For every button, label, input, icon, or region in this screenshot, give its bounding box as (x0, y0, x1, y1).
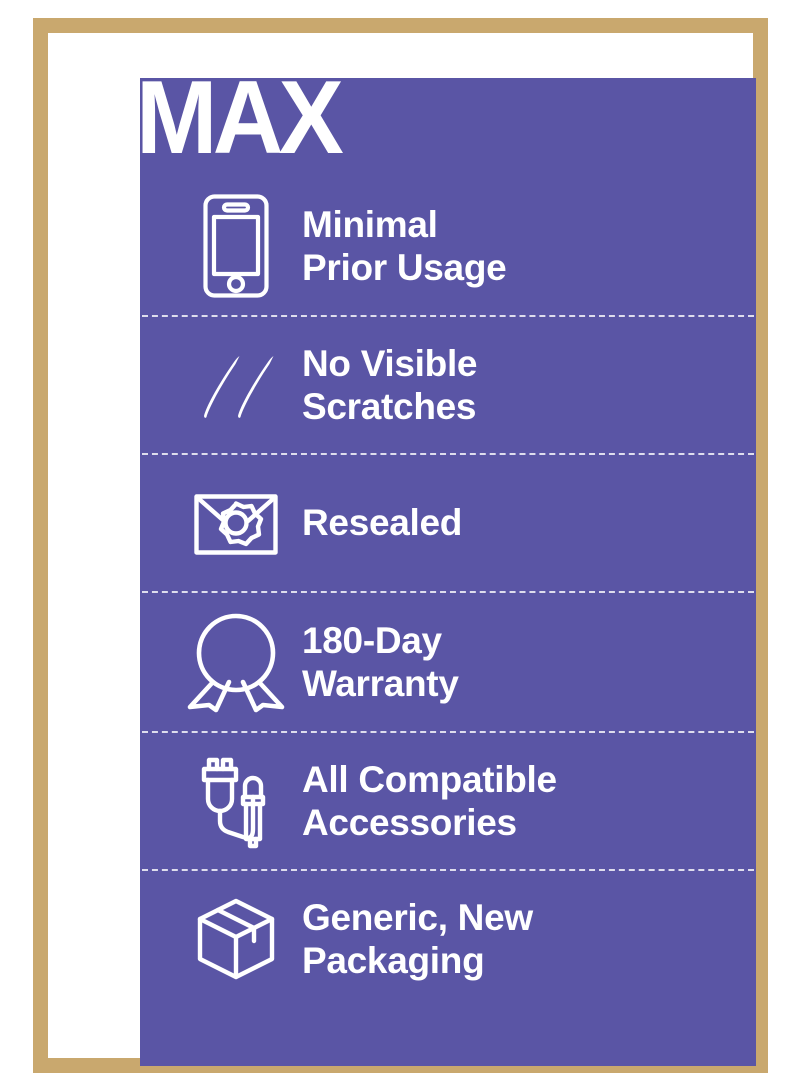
feature-label: Resealed (290, 501, 462, 544)
feature-list: Minimal Prior Usage No Visible Scratches (140, 177, 756, 1007)
feature-row-warranty: 180-Day Warranty (140, 593, 756, 731)
sealed-envelope-icon (140, 491, 290, 555)
feature-panel: MAX Minimal Prior Usage (140, 78, 756, 1066)
feature-row-accessories: All Compatible Accessories (140, 733, 756, 869)
scratches-icon (140, 350, 290, 420)
brand-wordmark: MAX (140, 78, 339, 170)
feature-label: 180-Day Warranty (290, 619, 459, 706)
smartphone-icon (140, 194, 290, 298)
feature-label: Minimal Prior Usage (290, 203, 506, 290)
gold-frame-border: MAX Minimal Prior Usage (33, 18, 768, 1073)
feature-row-no-visible-scratches: No Visible Scratches (140, 317, 756, 453)
feature-row-resealed: Resealed (140, 455, 756, 591)
feature-label: Generic, New Packaging (290, 896, 533, 983)
poster: MAX Minimal Prior Usage (0, 0, 800, 1091)
feature-row-packaging: Generic, New Packaging (140, 871, 756, 1007)
feature-label: All Compatible Accessories (290, 758, 557, 845)
package-box-icon (140, 897, 290, 981)
award-ribbon-icon (140, 612, 290, 712)
feature-row-minimal-prior-usage: Minimal Prior Usage (140, 177, 756, 315)
feature-label: No Visible Scratches (290, 342, 477, 429)
usb-cable-icon (140, 751, 290, 851)
